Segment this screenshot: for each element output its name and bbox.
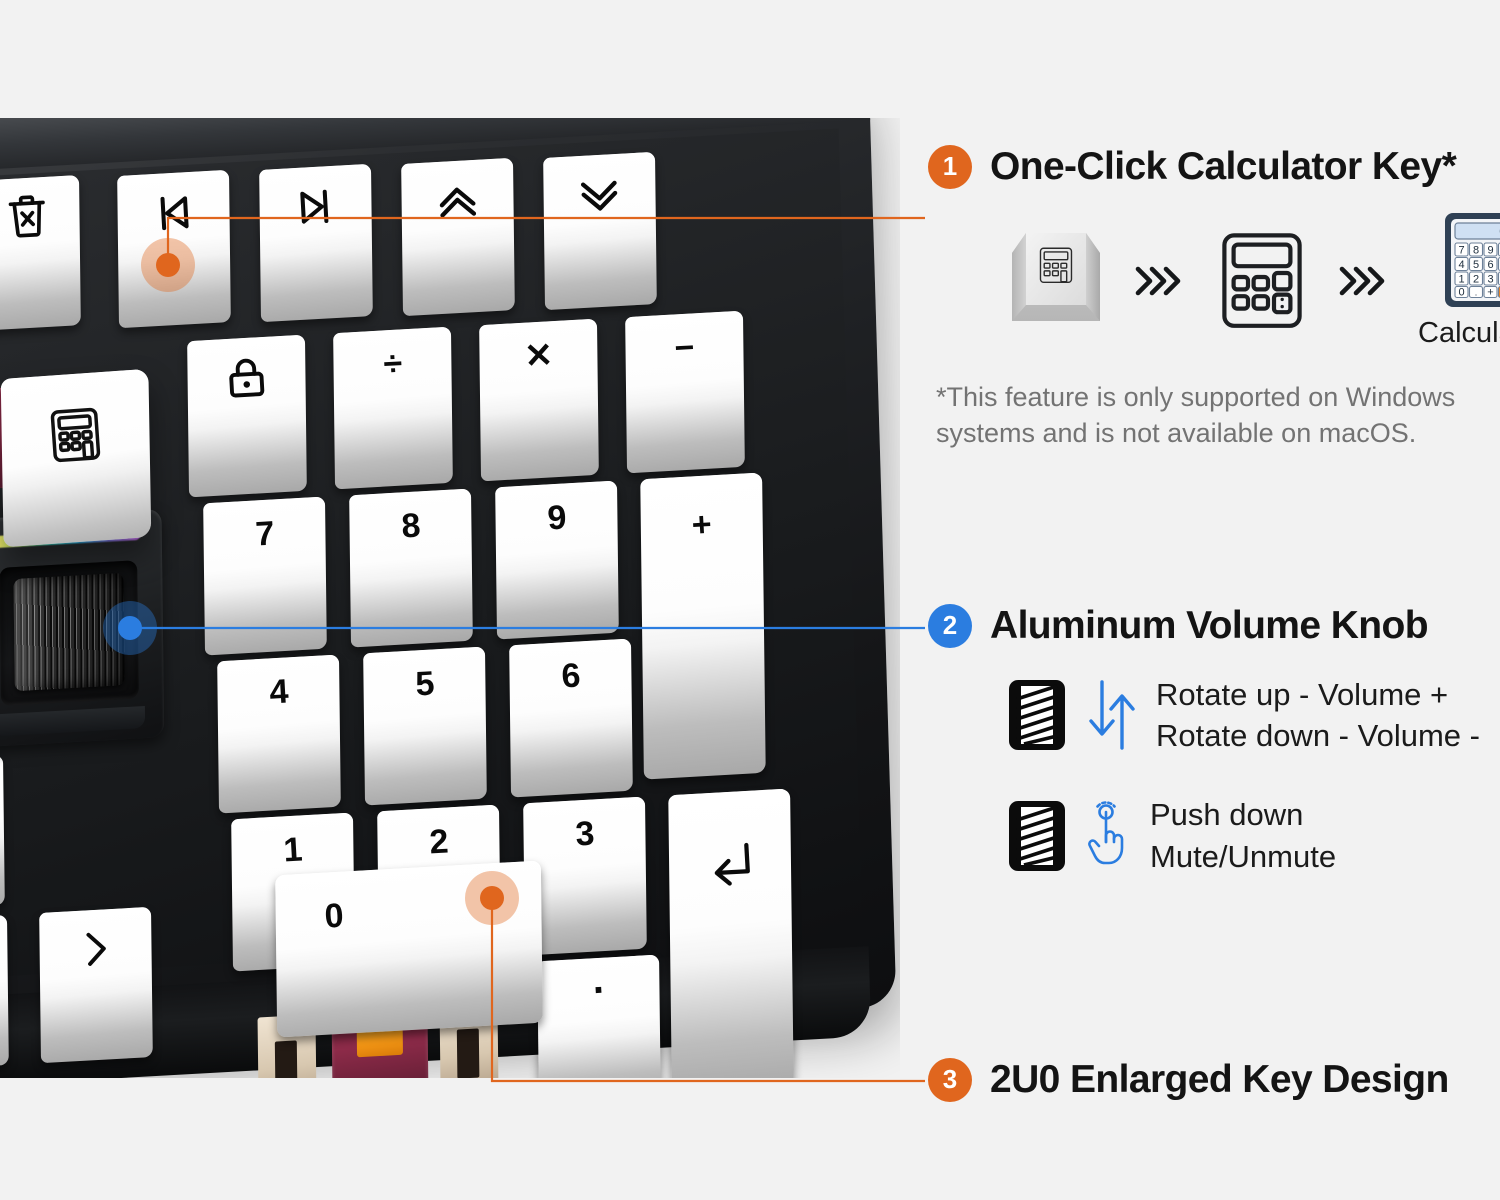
callout-dot-1 — [141, 238, 195, 292]
callout-2-title: Aluminum Volume Knob — [990, 604, 1428, 648]
svg-text:3: 3 — [1488, 274, 1494, 286]
calculator-flow: 0 789÷ — [1006, 211, 1500, 350]
svg-text:5: 5 — [1473, 259, 1479, 271]
push-down-text: Push down — [1150, 794, 1336, 835]
skip-forward-icon — [287, 179, 344, 241]
rotate-down-text: Rotate down - Volume - — [1156, 715, 1480, 756]
svg-text:6: 6 — [1488, 259, 1494, 271]
knob-module-foot — [0, 706, 145, 737]
double-chevron-down-icon — [571, 167, 628, 229]
mute-unmute-text: Mute/Unmute — [1150, 836, 1336, 877]
key-multiply[interactable]: ✕ — [479, 319, 599, 482]
key-label: . — [592, 960, 605, 1001]
key-label: 3 — [574, 817, 595, 852]
key-num-lock[interactable] — [187, 335, 307, 498]
callout-3: 3 2U0 Enlarged Key Design — [928, 1058, 1449, 1102]
trash-x-icon — [0, 189, 55, 249]
key-minus[interactable]: − — [625, 311, 745, 474]
key-label: 6 — [560, 659, 581, 694]
key-plus[interactable]: + — [640, 472, 765, 779]
keycap-calculator-floating[interactable] — [1, 369, 152, 548]
up-down-arrows-icon — [1084, 678, 1140, 752]
key-label: 0 — [323, 898, 344, 933]
triple-chevron-right-icon — [1132, 261, 1188, 301]
svg-text:2: 2 — [1473, 274, 1479, 286]
key-label: − — [674, 330, 696, 365]
dot-core — [480, 886, 504, 910]
svg-text:1: 1 — [1459, 274, 1465, 286]
key-num-6[interactable]: 6 — [509, 639, 633, 798]
tap-hand-icon — [1084, 799, 1134, 873]
key-page-up[interactable] — [401, 158, 515, 316]
callout-3-header: 3 2U0 Enlarged Key Design — [928, 1058, 1449, 1102]
callout-1-footnote: *This feature is only supported on Windo… — [936, 380, 1500, 451]
knurled-knob-icon — [1006, 677, 1068, 753]
flow-step-calculator-outline — [1214, 227, 1310, 335]
key-enter[interactable] — [668, 788, 793, 1078]
keycap-with-calculator-icon — [1006, 225, 1106, 337]
key-label: 1 — [282, 833, 303, 868]
callout-dot-2 — [103, 601, 157, 655]
key-next-track[interactable] — [259, 164, 373, 322]
callout-1-title: One-Click Calculator Key* — [990, 145, 1456, 189]
callout-2-badge: 2 — [928, 604, 972, 648]
key-label: + — [691, 507, 713, 542]
key-arrow-right[interactable] — [39, 907, 153, 1063]
knob-row-push: Push down Mute/Unmute — [1006, 794, 1480, 876]
key-label: 9 — [546, 501, 567, 536]
key-num-8[interactable]: 8 — [349, 489, 473, 648]
flow-step-calculator-app: 0 789÷ — [1418, 211, 1500, 350]
svg-text:9: 9 — [1488, 245, 1494, 257]
svg-text:8: 8 — [1473, 245, 1479, 257]
dot-core — [118, 616, 142, 640]
chevron-right-icon — [69, 922, 122, 980]
keyboard-photo: ÷ ✕ − 7 8 9 + 4 5 6 1 — [0, 118, 900, 1078]
key-label: 2 — [428, 825, 449, 860]
key-num-7[interactable]: 7 — [203, 497, 327, 656]
key-num-9[interactable]: 9 — [495, 481, 619, 640]
enter-arrow-icon — [698, 834, 762, 902]
callout-2: 2 Aluminum Volume Knob — [928, 604, 1480, 877]
knurled-knob-icon-2 — [1006, 798, 1068, 874]
svg-text:4: 4 — [1459, 259, 1465, 271]
flow-step-keycap — [1006, 225, 1106, 337]
knob-action-rows: Rotate up - Volume + Rotate down - Volum… — [1006, 674, 1480, 877]
callout-dot-3 — [465, 871, 519, 925]
svg-text:0: 0 — [1459, 287, 1465, 299]
dot-core — [156, 253, 180, 277]
callout-2-header: 2 Aluminum Volume Knob — [928, 604, 1480, 648]
knob-row-rotate-text: Rotate up - Volume + Rotate down - Volum… — [1156, 674, 1480, 756]
windows-calculator-app-icon: 0 789÷ — [1439, 211, 1500, 311]
triple-chevron-right-icon-2 — [1336, 261, 1392, 301]
svg-text:+: + — [1488, 287, 1494, 299]
key-label: ÷ — [382, 346, 403, 381]
key-label: 7 — [254, 517, 275, 552]
calculator-app-caption: Calculator — [1418, 317, 1500, 350]
key-decimal[interactable]: . — [537, 955, 661, 1078]
key-page-down[interactable] — [543, 152, 657, 310]
calculator-icon — [42, 401, 109, 472]
double-chevron-up-icon — [429, 173, 486, 235]
lock-icon — [219, 351, 274, 411]
calculator-outline-icon — [1214, 227, 1310, 335]
callout-1-header: 1 One-Click Calculator Key* — [928, 145, 1500, 189]
knob-row-rotate: Rotate up - Volume + Rotate down - Volum… — [1006, 674, 1480, 756]
callout-1-badge: 1 — [928, 145, 972, 189]
key-divide[interactable]: ÷ — [333, 327, 453, 490]
key-delete[interactable] — [0, 175, 81, 331]
key-num-5[interactable]: 5 — [363, 647, 487, 806]
feature-callout-page: ÷ ✕ − 7 8 9 + 4 5 6 1 — [0, 0, 1500, 1200]
callout-3-title: 2U0 Enlarged Key Design — [990, 1058, 1449, 1102]
rotate-up-text: Rotate up - Volume + — [1156, 674, 1480, 715]
callout-3-badge: 3 — [928, 1058, 972, 1102]
key-label: 4 — [268, 675, 289, 710]
knob-row-push-text: Push down Mute/Unmute — [1150, 794, 1336, 876]
svg-text:7: 7 — [1459, 245, 1465, 257]
svg-text:.: . — [1475, 288, 1478, 298]
key-label: 5 — [414, 667, 435, 702]
key-label: ✕ — [523, 338, 553, 374]
callout-1: 1 One-Click Calculator Key* — [928, 145, 1500, 451]
key-label: 8 — [400, 509, 421, 544]
key-num-4[interactable]: 4 — [217, 655, 341, 814]
key-num-3[interactable]: 3 — [523, 797, 647, 956]
